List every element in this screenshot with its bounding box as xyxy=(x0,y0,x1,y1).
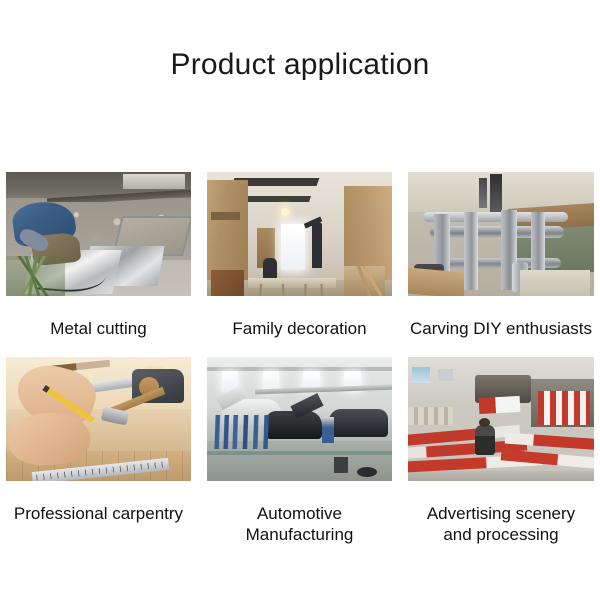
product-application-page: Product application xyxy=(0,0,600,600)
carriage-column-2 xyxy=(464,212,478,290)
caption-metal-cutting: Metal cutting xyxy=(6,318,191,339)
foreground-plants xyxy=(6,256,65,296)
worker-seated xyxy=(263,258,277,278)
bright-window xyxy=(281,224,305,270)
caption-professional-carpentry: Professional carpentry xyxy=(6,503,191,524)
carving-machine-scene xyxy=(408,172,594,296)
leaning-planks xyxy=(344,266,385,296)
caption-advertising-scenery: Advertising scenery and processing xyxy=(408,503,594,545)
caption-advertising-line-2: and processing xyxy=(443,525,558,544)
caption-carving-diy: Carving DIY enthusiasts xyxy=(408,318,594,339)
caption-automotive-manufacturing: Automotive Manufacturing xyxy=(207,503,392,545)
ceiling-lamp xyxy=(281,208,289,216)
photo-advertising-scenery[interactable] xyxy=(408,357,594,481)
photo-professional-carpentry[interactable] xyxy=(6,357,191,481)
gallery-cell-family-decoration[interactable]: Family decoration xyxy=(207,172,392,339)
ceiling-vent-lower xyxy=(239,196,311,202)
application-gallery-grid: Metal cutting xyxy=(6,172,594,545)
worker-standing xyxy=(312,222,322,268)
wall-poster-2 xyxy=(438,369,453,381)
caption-family-decoration: Family decoration xyxy=(207,318,392,339)
worker-right xyxy=(322,417,334,443)
floor-stripe xyxy=(207,451,392,455)
photo-automotive-manufacturing[interactable] xyxy=(207,357,392,481)
advertising-scene xyxy=(408,357,594,481)
family-decoration-scene xyxy=(207,172,392,296)
gallery-cell-carving-diy[interactable]: Carving DIY enthusiasts xyxy=(408,172,594,339)
wall-poster-1 xyxy=(412,367,431,383)
automotive-scene xyxy=(207,357,392,481)
workers-in-blue-uniforms xyxy=(214,415,277,449)
car-dark-right xyxy=(329,409,388,437)
photo-carving-diy[interactable] xyxy=(408,172,594,296)
floor-strip xyxy=(408,471,594,481)
wood-board xyxy=(408,268,464,296)
photo-metal-cutting[interactable] xyxy=(6,172,191,296)
paper-template xyxy=(520,270,591,296)
gallery-row-2: Professional carpentry xyxy=(6,357,594,545)
gallery-cell-professional-carpentry[interactable]: Professional carpentry xyxy=(6,357,191,545)
printed-output xyxy=(538,391,590,425)
work-bench-legs xyxy=(255,284,329,296)
gallery-row-1: Metal cutting xyxy=(6,172,594,339)
caption-advertising-line-1: Advertising scenery xyxy=(427,504,575,523)
material-rolls xyxy=(408,407,453,425)
wood-panel-stack xyxy=(211,270,244,296)
carpentry-scene xyxy=(6,357,191,481)
banner-hanging xyxy=(478,396,520,414)
page-title: Product application xyxy=(0,48,600,82)
worker-crouching xyxy=(475,425,495,455)
drill-bit-secondary xyxy=(479,178,487,208)
gallery-cell-metal-cutting[interactable]: Metal cutting xyxy=(6,172,191,339)
photo-family-decoration[interactable] xyxy=(207,172,392,296)
gallery-cell-advertising-scenery[interactable]: Advertising scenery and processing xyxy=(408,357,594,545)
metal-cutting-scene xyxy=(6,172,191,296)
floor-jack xyxy=(334,457,348,473)
drill-spindle xyxy=(490,174,502,214)
gallery-cell-automotive-manufacturing[interactable]: Automotive Manufacturing xyxy=(207,357,392,545)
